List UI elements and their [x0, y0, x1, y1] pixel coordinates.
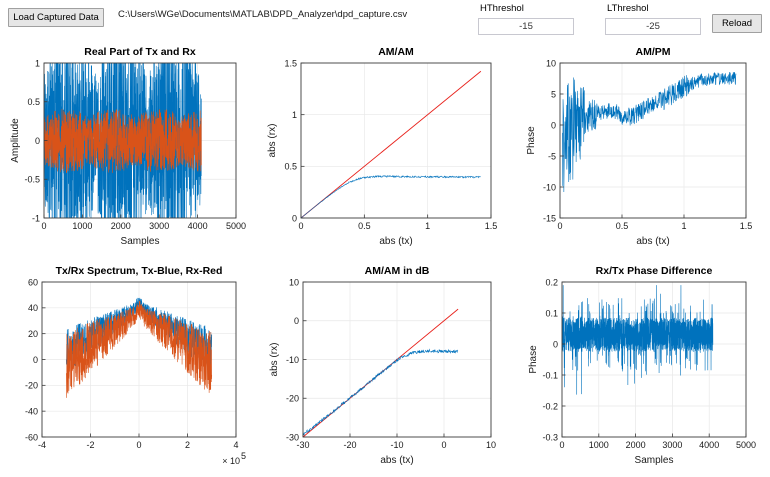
reload-button[interactable]: Reload [712, 14, 762, 33]
y-tick-label: 20 [28, 329, 38, 339]
x-axis-label: abs (tx) [380, 455, 413, 466]
x-tick-label: 1.5 [740, 221, 753, 231]
x-tick-label: 3000 [149, 221, 169, 231]
x-tick-label: 10 [486, 440, 496, 450]
y-tick-label: 5 [551, 89, 556, 99]
y-tick-label: 0 [553, 339, 558, 349]
x-tick-label: 1 [681, 221, 686, 231]
y-tick-label: 0.1 [545, 308, 558, 318]
plot-title: Tx/Rx Spectrum, Tx-Blue, Rx-Red [56, 265, 223, 277]
x-axis-exponent-power: 5 [241, 451, 246, 461]
y-tick-label: -30 [286, 432, 299, 442]
hthreshold-input[interactable] [478, 18, 574, 35]
x-axis-label: abs (tx) [636, 236, 669, 247]
plot-title: AM/AM [378, 46, 414, 58]
x-tick-label: -4 [38, 440, 46, 450]
x-tick-label: -20 [343, 440, 356, 450]
plot-grid: Real Part of Tx and Rx010002000300040005… [0, 38, 770, 477]
x-tick-label: 0 [441, 440, 446, 450]
y-tick-label: 0.5 [284, 162, 297, 172]
plot-am-am: AM/AM00.511.500.511.5abs (tx)abs (rx) [257, 38, 513, 257]
y-tick-label: 0.2 [545, 277, 558, 287]
x-tick-label: 1000 [72, 221, 92, 231]
x-tick-label: 0 [298, 221, 303, 231]
chart-am-am-db: AM/AM in dB-30-20-10010-30-20-10010abs (… [257, 257, 513, 476]
chart-data-layer [303, 309, 458, 437]
plot-am-pm: AM/PM00.511.5-15-10-50510abs (tx)Phase [512, 38, 768, 257]
y-tick-label: -10 [286, 355, 299, 365]
chart-data-layer [44, 63, 201, 218]
y-tick-label: 1 [292, 110, 297, 120]
hthreshold-group: HThreshol [478, 3, 574, 35]
file-path-text: C:\Users\WGe\Documents\MATLAB\DPD_Analyz… [118, 9, 407, 20]
y-tick-label: 1 [35, 58, 40, 68]
chart-data-layer [562, 72, 736, 192]
x-tick-label: 0.5 [358, 221, 371, 231]
x-tick-label: 0 [557, 221, 562, 231]
y-tick-label: -20 [25, 381, 38, 391]
lthreshold-label: LThreshol [607, 3, 701, 14]
lthreshold-input[interactable] [605, 18, 701, 35]
y-tick-label: -15 [543, 213, 556, 223]
y-tick-label: -0.3 [542, 432, 558, 442]
chart-am-am: AM/AM00.511.500.511.5abs (tx)abs (rx) [257, 38, 513, 257]
y-tick-label: 0 [33, 355, 38, 365]
plot-real-part-tx-rx: Real Part of Tx and Rx010002000300040005… [2, 38, 258, 257]
y-tick-label: 0 [294, 316, 299, 326]
plot-title: AM/AM in dB [365, 265, 430, 277]
plot-tx-rx-spectrum: Tx/Rx Spectrum, Tx-Blue, Rx-Red-4-2024-6… [2, 257, 258, 476]
chart-tx-rx-spectrum: Tx/Rx Spectrum, Tx-Blue, Rx-Red-4-2024-6… [2, 257, 258, 476]
y-tick-label: 0 [292, 213, 297, 223]
x-axis-label: Samples [635, 455, 674, 466]
y-tick-label: -0.5 [24, 175, 40, 185]
y-axis-label: abs (rx) [267, 124, 278, 158]
hthreshold-label: HThreshol [480, 3, 574, 14]
x-tick-label: 5000 [736, 440, 756, 450]
x-axis-label: abs (tx) [379, 236, 412, 247]
y-tick-label: -20 [286, 394, 299, 404]
x-tick-label: -2 [86, 440, 94, 450]
x-tick-label: 0 [559, 440, 564, 450]
x-tick-label: 1.5 [485, 221, 498, 231]
y-tick-label: -1 [32, 213, 40, 223]
y-tick-label: -0.1 [542, 370, 558, 380]
plot-title: Rx/Tx Phase Difference [596, 265, 713, 277]
x-tick-label: 1 [425, 221, 430, 231]
y-tick-label: -10 [543, 182, 556, 192]
chart-data-layer [301, 71, 481, 218]
chart-real-part-tx-rx: Real Part of Tx and Rx010002000300040005… [2, 38, 258, 257]
lthreshold-group: LThreshol [605, 3, 701, 35]
toolbar: Load Captured Data C:\Users\WGe\Document… [0, 0, 770, 40]
x-tick-label: 4000 [699, 440, 719, 450]
y-tick-label: 10 [546, 58, 556, 68]
y-tick-label: 1.5 [284, 58, 297, 68]
x-tick-label: 2 [185, 440, 190, 450]
y-axis-label: Phase [526, 126, 537, 155]
y-axis-label: Amplitude [10, 118, 21, 163]
x-tick-label: 2000 [626, 440, 646, 450]
x-tick-label: 3000 [662, 440, 682, 450]
chart-am-pm: AM/PM00.511.5-15-10-50510abs (tx)Phase [512, 38, 768, 257]
chart-data-layer [562, 285, 713, 395]
plot-title: Real Part of Tx and Rx [84, 46, 196, 58]
x-tick-label: 4000 [188, 221, 208, 231]
y-tick-label: 60 [28, 277, 38, 287]
y-axis-label: Phase [528, 345, 539, 374]
y-tick-label: 0.5 [27, 97, 40, 107]
y-tick-label: 0 [35, 136, 40, 146]
plot-rx-tx-phase-difference: Rx/Tx Phase Difference010002000300040005… [512, 257, 768, 476]
x-tick-label: -10 [390, 440, 403, 450]
x-tick-label: 0 [41, 221, 46, 231]
y-tick-label: 40 [28, 303, 38, 313]
y-tick-label: -0.2 [542, 401, 558, 411]
plot-am-am-db: AM/AM in dB-30-20-10010-30-20-10010abs (… [257, 257, 513, 476]
load-captured-data-button[interactable]: Load Captured Data [8, 8, 104, 27]
x-tick-label: 1000 [589, 440, 609, 450]
x-tick-label: 5000 [226, 221, 246, 231]
x-axis-label: Samples [121, 236, 160, 247]
x-axis-exponent: × 10 [222, 456, 240, 466]
y-axis-label: abs (rx) [269, 343, 280, 377]
x-tick-label: 0.5 [616, 221, 629, 231]
y-tick-label: -60 [25, 432, 38, 442]
y-tick-label: 0 [551, 120, 556, 130]
plot-title: AM/PM [636, 46, 671, 58]
x-tick-label: 0 [136, 440, 141, 450]
y-tick-label: -40 [25, 406, 38, 416]
y-tick-label: 10 [289, 277, 299, 287]
chart-rx-tx-phase-difference: Rx/Tx Phase Difference010002000300040005… [512, 257, 768, 476]
x-tick-label: 2000 [111, 221, 131, 231]
x-tick-label: 4 [233, 440, 238, 450]
y-tick-label: -5 [548, 151, 556, 161]
